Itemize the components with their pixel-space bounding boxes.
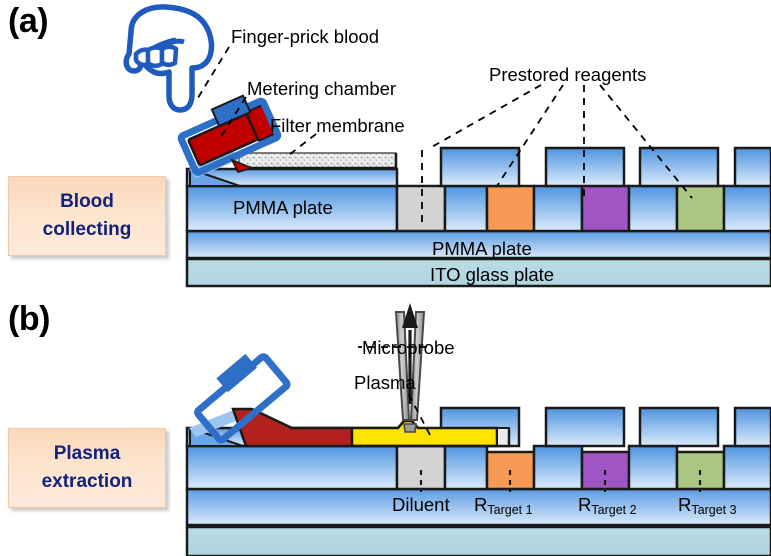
stage-label-blood-collecting: Blood collecting [8,176,166,256]
panel-b-pmma-upper-layer [187,446,771,489]
reagent-label-subscript: Target 2 [591,503,636,517]
stage-label-line1: Plasma [54,440,121,468]
reagent-label-target-3: RTarget 3 [678,494,737,516]
panel-a-filter-membrane [239,153,396,168]
reagent-label-base: R [578,494,591,515]
layer-label-pmma-plate-middle: PMMA plate [432,238,532,260]
callout-finger-prick-blood: Finger-prick blood [231,26,379,48]
reagent-label-base: R [474,494,487,515]
stage-label-line2: collecting [43,216,132,244]
reagent-label-diluent: Diluent [392,494,450,516]
reagent-label-target-2: RTarget 2 [578,494,637,516]
reagent-label-subscript: Target 1 [487,503,532,517]
panel-a-top-cap-blocks [441,148,771,186]
stage-label-line1: Blood [60,188,114,216]
callout-prestored-reagents: Prestored reagents [489,64,646,86]
panel-b-structure [187,303,771,556]
panel-a-letter: (a) [8,2,48,41]
callout-microprobe: Microprobe [362,337,455,359]
stage-label-plasma-extraction: Plasma extraction [8,428,166,508]
panel-a-reagent-well-2 [582,186,629,231]
callout-metering-chamber: Metering chamber [247,78,396,100]
panel-a-reagent-well-1 [487,186,534,231]
reagent-label-base: Diluent [392,494,450,515]
panel-b-letter: (b) [8,300,50,339]
layer-label-ito-glass-plate: ITO glass plate [430,264,554,286]
pointing-hand-icon [118,2,238,132]
figure-canvas: (a) (b) Blood collecting Plasma extracti… [0,0,771,556]
reagent-label-target-1: RTarget 1 [474,494,533,516]
callout-plasma: Plasma [354,372,416,394]
panel-a-reagent-well-3 [677,186,724,231]
panel-a-diluent-well [397,186,445,231]
stage-label-line2: extraction [42,468,133,496]
layer-label-pmma-plate-upper: PMMA plate [233,197,333,219]
reagent-label-subscript: Target 3 [691,503,736,517]
reagent-label-base: R [678,494,691,515]
panel-b-ito-glass-plate [187,527,771,556]
callout-filter-membrane: Filter membrane [270,115,405,137]
